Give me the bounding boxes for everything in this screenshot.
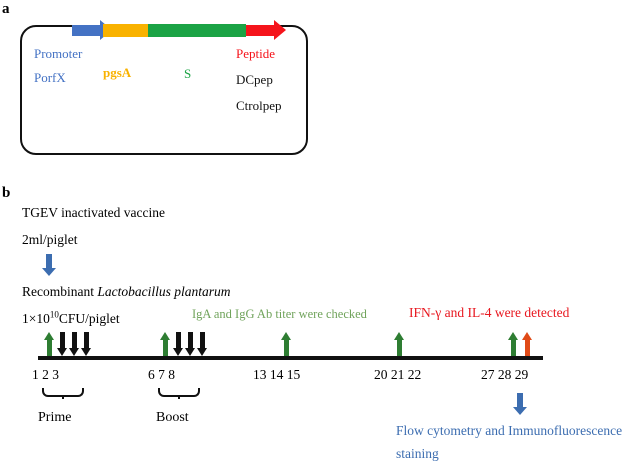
caption-line-2: staining: [396, 447, 439, 461]
timeline-green-up-arrow-icon: [160, 332, 171, 356]
ctrolpep-label: Ctrolpep: [236, 99, 282, 112]
s-gene-segment: [148, 24, 246, 37]
promoter-label: Promoter: [34, 47, 82, 60]
timeline-black-down-arrow-icon: [185, 332, 196, 356]
timeline-day-label-group: 20 21 22: [374, 368, 421, 382]
timeline-black-down-arrow-icon: [197, 332, 208, 356]
pgsa-segment: [103, 24, 148, 37]
timeline-green-up-arrow-icon: [44, 332, 55, 356]
s-gene-label: S: [184, 67, 191, 80]
vaccine-dose-text: 2ml/piglet: [22, 233, 78, 247]
peptide-arrow-icon: [246, 20, 286, 41]
timeline-green-up-arrow-icon: [394, 332, 405, 356]
recombinant-dose-text: 1×1010CFU/piglet: [22, 312, 120, 326]
dose-exponent: 10: [50, 310, 59, 320]
recombinant-prefix: Recombinant: [22, 284, 97, 299]
panel-a-letter: a: [2, 2, 10, 17]
recombinant-strain-text: Recombinant Lactobacillus plantarum: [22, 285, 231, 299]
timeline-black-down-arrow-icon: [81, 332, 92, 356]
timeline-arrow-layer: [0, 332, 644, 358]
recombinant-species: Lactobacillus plantarum: [97, 284, 230, 299]
timeline-day-label-group: 1 2 3: [32, 368, 59, 382]
dose-base: 1×10: [22, 311, 50, 326]
porfx-label: PorfX: [34, 71, 66, 84]
down-arrow-icon-2: [513, 393, 527, 415]
peptide-label: Peptide: [236, 47, 275, 60]
timeline-green-up-arrow-icon: [281, 332, 292, 356]
construct-diagram-box: [20, 25, 308, 155]
phase-brace: [158, 388, 200, 397]
dcpep-label: DCpep: [236, 73, 273, 86]
dose-unit: CFU/piglet: [59, 311, 120, 326]
gene-cassette: [20, 18, 310, 42]
timeline-green-up-arrow-icon: [508, 332, 519, 356]
phase-brace: [42, 388, 84, 397]
cytokine-annotation: IFN-γ and IL-4 were detected: [409, 306, 569, 320]
timeline-red-up-arrow-icon: [522, 332, 533, 356]
panel-b-letter: b: [2, 186, 10, 201]
phase-label: Prime: [38, 411, 71, 425]
pgsa-label: pgsA: [103, 66, 131, 79]
down-arrow-icon: [42, 254, 56, 276]
phase-label: Boost: [156, 411, 189, 425]
caption-line-1: Flow cytometry and Immunofluorescence: [396, 424, 622, 438]
timeline-black-down-arrow-icon: [57, 332, 68, 356]
timeline-day-label-group: 13 14 15: [253, 368, 300, 382]
vaccine-name-text: TGEV inactivated vaccine: [22, 206, 165, 220]
timeline-black-down-arrow-icon: [69, 332, 80, 356]
timeline-day-label-group: 6 7 8: [148, 368, 175, 382]
antibody-annotation: IgA and IgG Ab titer were checked: [192, 308, 367, 321]
timeline-day-label-group: 27 28 29: [481, 368, 528, 382]
timeline-black-down-arrow-icon: [173, 332, 184, 356]
